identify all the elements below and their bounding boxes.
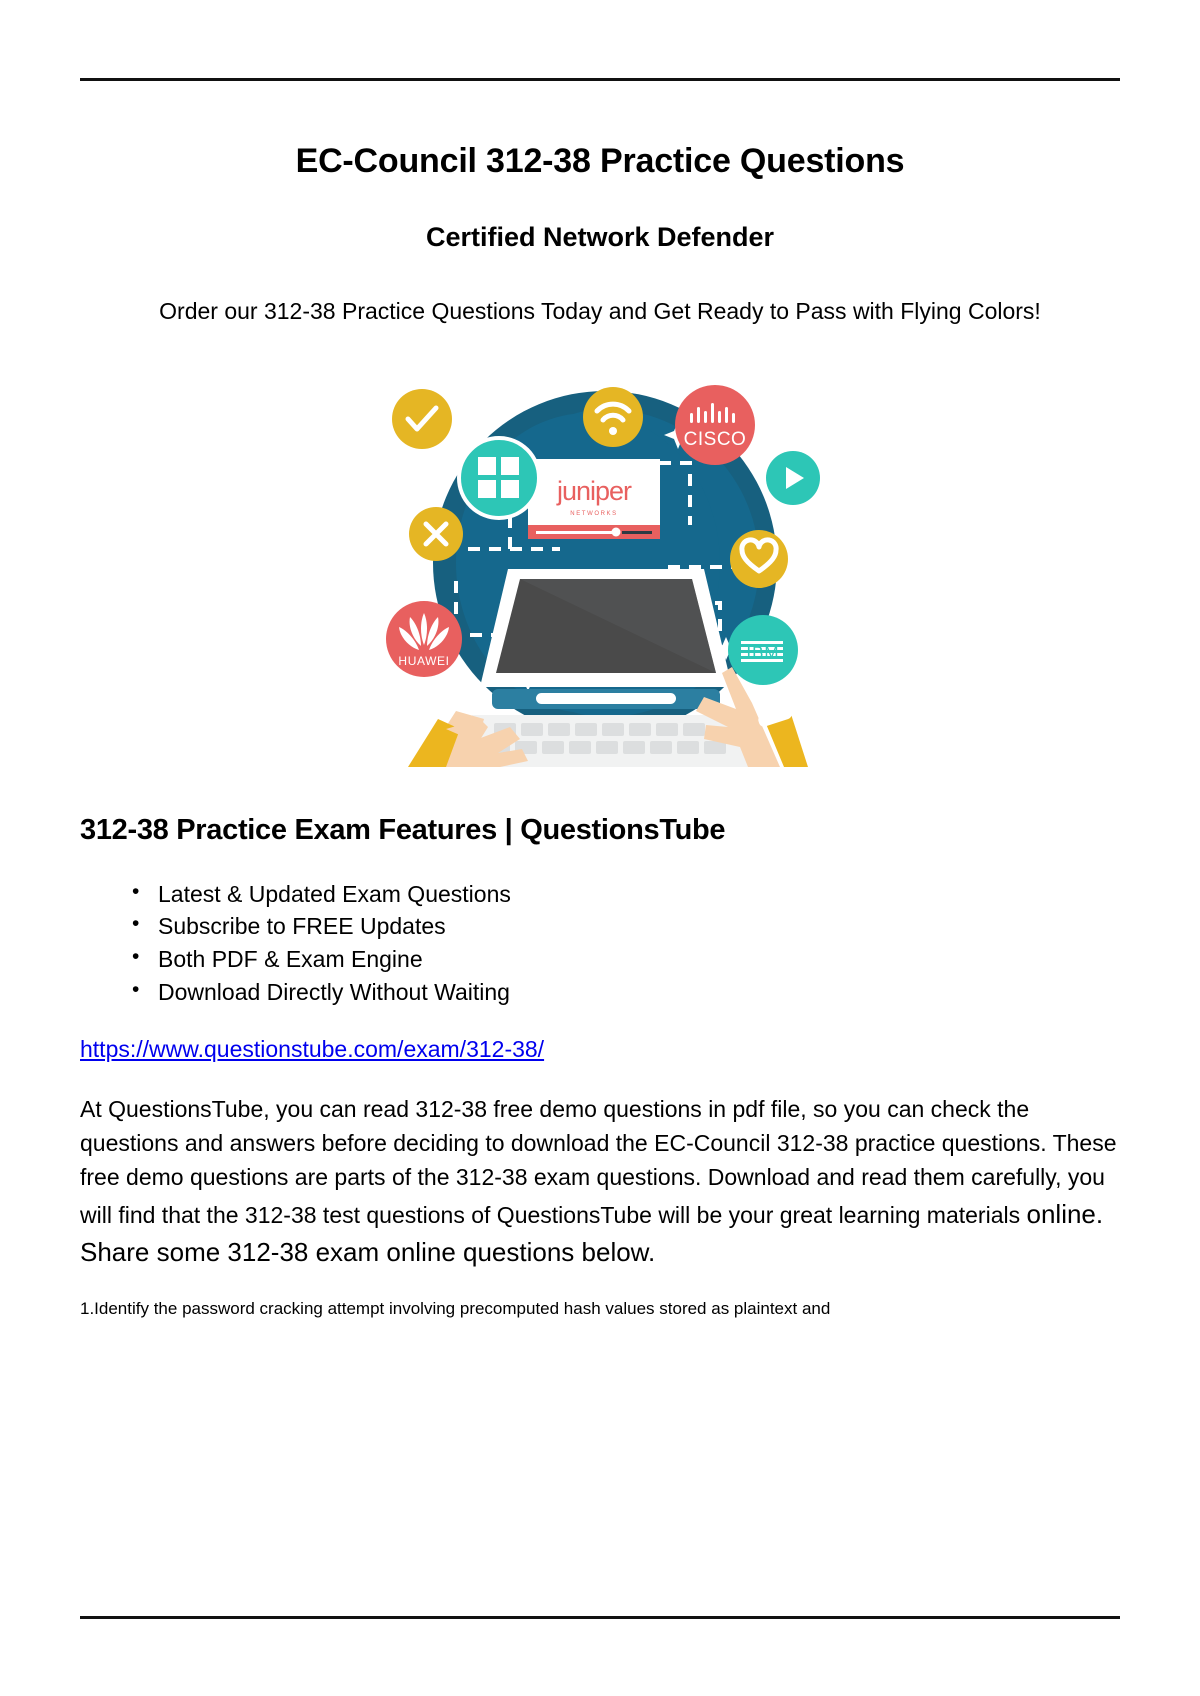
close-badge [409,507,463,561]
illustration-svg: juniper NETWORKS [360,367,840,767]
ibm-label: IBM [746,643,779,662]
questionstube-exam-link[interactable]: https://www.questionstube.com/exam/312-3… [80,1036,544,1063]
document-content: EC-Council 312-38 Practice Questions Cer… [80,140,1120,1322]
cisco-badge: CISCO [675,385,755,465]
body-paragraph-text: At QuestionsTube, you can read 312-38 fr… [80,1096,1117,1227]
list-item: Subscribe to FREE Updates [158,910,1120,943]
huawei-label: HUAWEI [398,654,449,668]
list-item: Both PDF & Exam Engine [158,943,1120,976]
footer-rule [80,1616,1120,1619]
section-heading: 312-38 Practice Exam Features | Question… [80,813,1120,848]
illustration-container: juniper NETWORKS [80,367,1120,767]
ibm-badge: IBM [728,615,798,685]
wifi-badge [583,387,643,447]
svg-text:juniper: juniper [556,476,632,506]
play-badge [766,451,820,505]
check-badge [392,389,452,449]
header-rule [80,78,1120,81]
body-paragraph: At QuestionsTube, you can read 312-38 fr… [80,1093,1120,1271]
lead-paragraph: Order our 312-38 Practice Questions Toda… [80,296,1120,327]
page-subtitle: Certified Network Defender [80,221,1120,255]
huawei-badge: HUAWEI [386,601,462,677]
juniper-card: juniper NETWORKS [528,459,660,539]
list-item: Download Directly Without Waiting [158,976,1120,1009]
network-vendors-illustration: juniper NETWORKS [360,367,840,767]
question-line: 1.Identify the password cracking attempt… [80,1297,1120,1322]
heart-badge [730,530,788,588]
document-page: EC-Council 312-38 Practice Questions Cer… [0,0,1200,1696]
page-title: EC-Council 312-38 Practice Questions [80,140,1120,183]
windows-badge [459,438,539,518]
feature-list: Latest & Updated Exam Questions Subscrib… [80,878,1120,1009]
cisco-label: CISCO [684,429,747,450]
svg-text:NETWORKS: NETWORKS [570,511,617,517]
list-item: Latest & Updated Exam Questions [158,878,1120,911]
